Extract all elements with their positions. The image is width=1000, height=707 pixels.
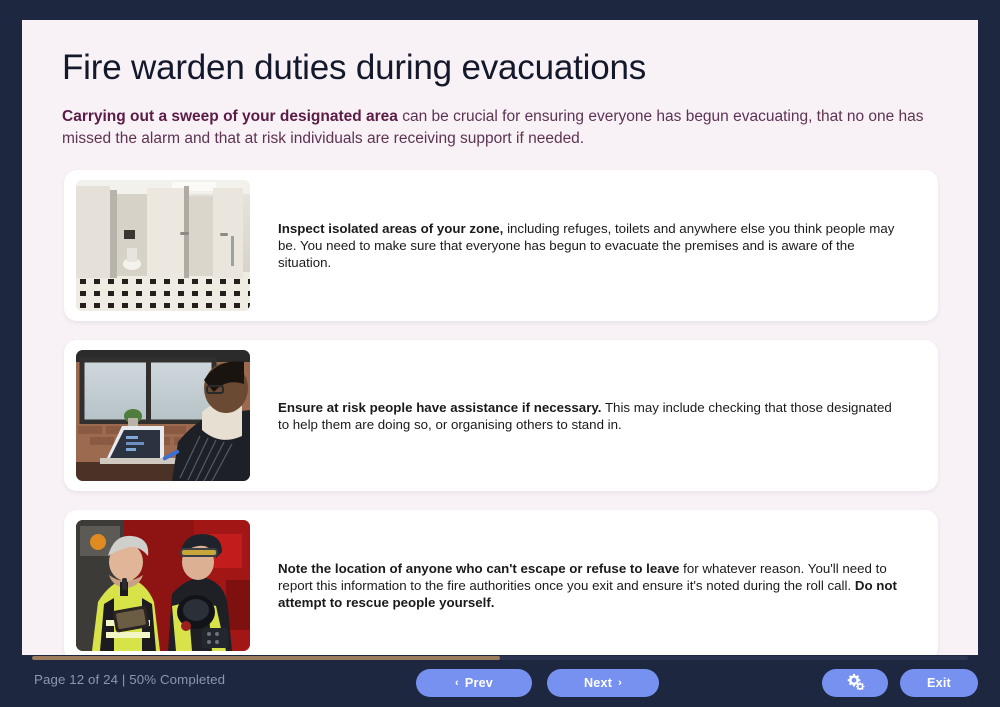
slide-intro-text: Carrying out a sweep of your designated …	[62, 106, 958, 150]
next-button[interactable]: Next ›	[547, 669, 659, 697]
slide-content-area: Fire warden duties during evacuations Ca…	[22, 20, 978, 655]
elearning-slide-viewer: Fire warden duties during evacuations Ca…	[0, 0, 1000, 707]
duty-card: Ensure at risk people have assistance if…	[64, 340, 938, 491]
course-progress-fill	[32, 656, 500, 660]
duty-card: Inspect isolated areas of your zone, inc…	[64, 170, 938, 321]
duty-card-text: Ensure at risk people have assistance if…	[250, 399, 926, 433]
settings-button[interactable]	[822, 669, 888, 697]
duty-card-lead: Ensure at risk people have assistance if…	[278, 400, 601, 415]
duty-card-text: Note the location of anyone who can't es…	[250, 560, 926, 611]
duty-card-lead: Inspect isolated areas of your zone,	[278, 221, 503, 236]
gears-icon	[846, 673, 865, 693]
prev-button-label: Prev	[465, 676, 493, 690]
person-neck-brace-laptop-photo	[76, 350, 250, 481]
duty-card-lead: Note the location of anyone who can't es…	[278, 561, 679, 576]
exit-button-label: Exit	[927, 676, 951, 690]
toilet-cubicles-photo	[76, 180, 250, 311]
exit-button[interactable]: Exit	[900, 669, 978, 697]
duty-card-list: Inspect isolated areas of your zone, inc…	[64, 170, 938, 655]
utility-button-group: Exit	[822, 669, 978, 697]
course-progress-bar	[32, 656, 968, 660]
firefighters-tablet-photo	[76, 520, 250, 651]
navigation-button-group: ‹ Prev Next ›	[416, 669, 659, 697]
page-status-text: Page 12 of 24 | 50% Completed	[34, 672, 225, 687]
chevron-left-icon: ‹	[455, 678, 459, 689]
duty-card: Note the location of anyone who can't es…	[64, 510, 938, 655]
page-title: Fire warden duties during evacuations	[62, 48, 646, 88]
next-button-label: Next	[584, 676, 612, 690]
slide-intro-lead: Carrying out a sweep of your designated …	[62, 108, 398, 125]
duty-card-text: Inspect isolated areas of your zone, inc…	[250, 220, 926, 271]
prev-button[interactable]: ‹ Prev	[416, 669, 532, 697]
chevron-right-icon: ›	[618, 678, 622, 689]
